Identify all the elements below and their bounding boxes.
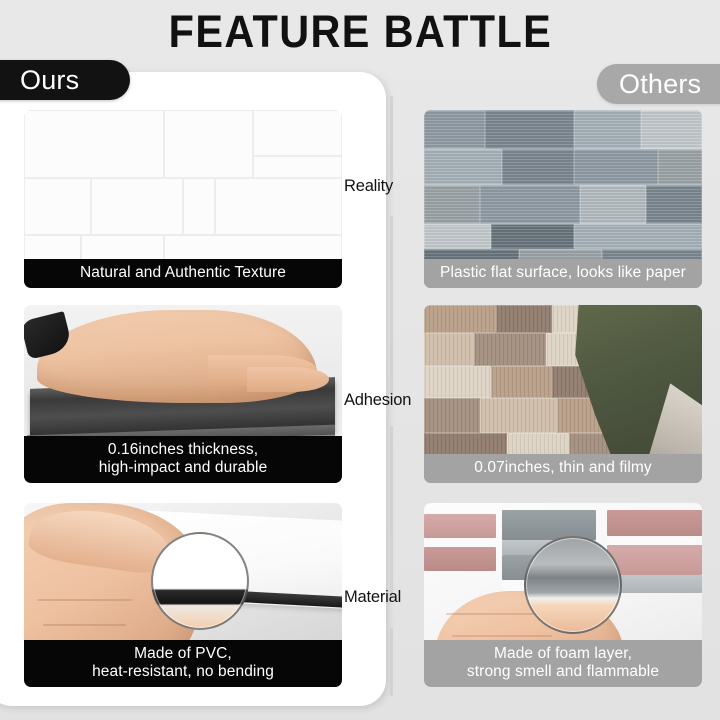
caption-line-1: Made of PVC, (134, 645, 232, 662)
caption-line-2: strong smell and flammable (430, 663, 696, 681)
caption-line-1: 0.16inches thickness, (108, 441, 258, 458)
caption-line-1: 0.07inches, thin and filmy (474, 459, 652, 476)
ours-media-reality: Natural and Authentic Texture (24, 110, 342, 288)
ours-caption-reality: Natural and Authentic Texture (24, 259, 342, 288)
caption-line-1: Plastic flat surface, looks like paper (440, 264, 686, 281)
others-caption-reality: Plastic flat surface, looks like paper (424, 259, 702, 288)
others-media-reality: Plastic flat surface, looks like paper (424, 110, 702, 288)
title-bar: FEATURE BATTLE (0, 0, 720, 62)
section-label-reality: Reality (344, 177, 393, 196)
caption-line-2: heat-resistant, no bending (30, 663, 336, 681)
divider-segment (390, 216, 393, 394)
ours-media-material: Made of PVC, heat-resistant, no bending (24, 503, 342, 687)
others-badge: Others (597, 64, 720, 104)
caption-line-1: Natural and Authentic Texture (80, 264, 286, 281)
section-label-adhesion: Adhesion (344, 391, 411, 410)
divider-segment (390, 628, 393, 696)
magnifier-circle-icon (524, 536, 622, 634)
divider-segment (390, 96, 393, 182)
others-caption-adhesion: 0.07inches, thin and filmy (424, 454, 702, 483)
magnifier-circle-icon (151, 532, 249, 630)
others-caption-material: Made of foam layer, strong smell and fla… (424, 640, 702, 687)
caption-line-2: high-impact and durable (30, 459, 336, 477)
others-media-adhesion: 0.07inches, thin and filmy (424, 305, 702, 483)
caption-line-1: Made of foam layer, (494, 645, 632, 662)
page-title: FEATURE BATTLE (168, 9, 551, 54)
others-media-material: Made of foam layer, strong smell and fla… (424, 503, 702, 687)
ours-badge: Ours (0, 60, 130, 100)
divider-segment (390, 426, 393, 594)
section-label-material: Material (344, 588, 401, 607)
ours-caption-material: Made of PVC, heat-resistant, no bending (24, 640, 342, 687)
others-badge-label: Others (619, 69, 701, 100)
ours-badge-label: Ours (20, 65, 79, 96)
ours-media-adhesion: 0.16inches thickness, high-impact and du… (24, 305, 342, 483)
ours-caption-adhesion: 0.16inches thickness, high-impact and du… (24, 436, 342, 483)
